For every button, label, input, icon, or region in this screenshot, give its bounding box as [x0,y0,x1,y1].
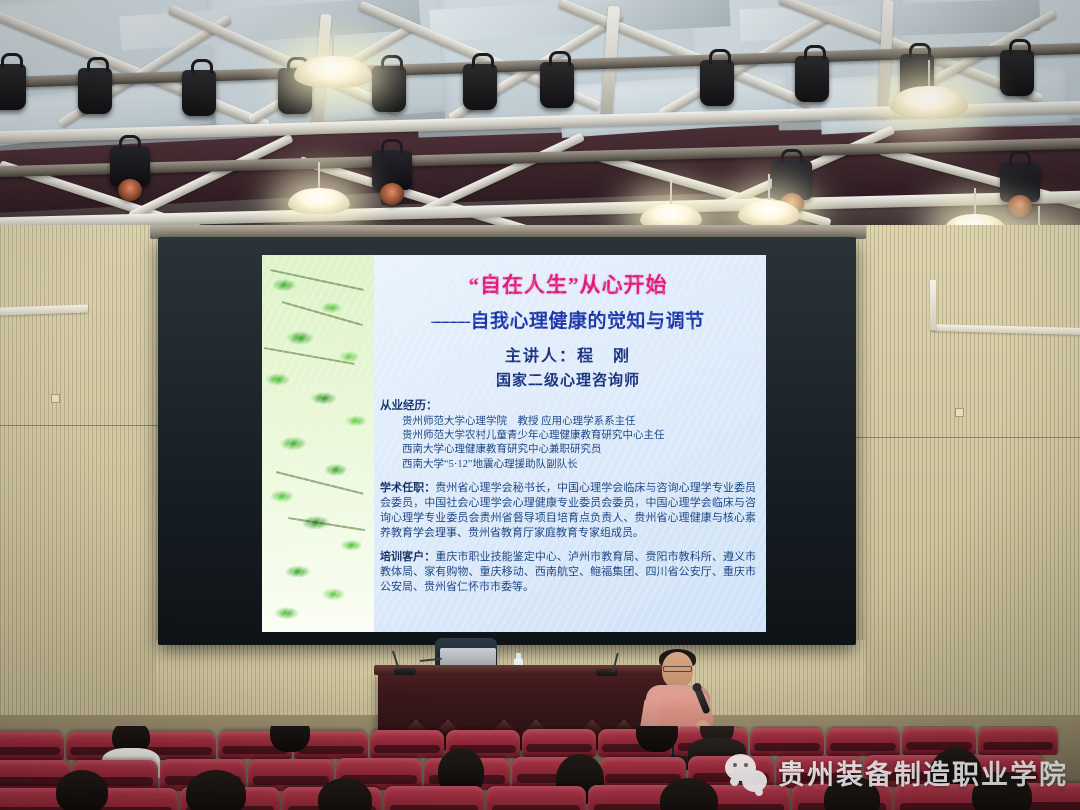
seat [0,732,64,760]
wall-seam [0,425,172,426]
slide-title: “自在人生”从心开始 [380,269,756,299]
presentation-slide: “自在人生”从心开始 ——自我心理健康的觉知与调节 主讲人：程 刚 国家二级心理… [262,255,766,632]
stage-light [372,66,406,112]
glasses-icon [663,666,692,672]
pendant-lamp [890,86,968,118]
slide-text-area: “自在人生”从心开始 ——自我心理健康的觉知与调节 主讲人：程 刚 国家二级心理… [374,255,766,632]
slide-leaf-illustration [262,255,374,632]
watermark: 贵州装备制造职业学院 [725,753,1068,792]
wechat-icon [725,754,767,792]
seat [826,728,900,756]
desk-microphone-base [596,669,618,676]
academic-text: 贵州省心理学会秘书长，中国心理学会临床与咨询心理学专业委员会委员，中国社会心理学… [380,482,756,539]
seat [384,786,484,810]
ceiling-structure [0,0,1080,232]
seat [978,727,1058,755]
pendant-lamp [288,188,350,214]
audience-head [56,770,108,810]
stage-light [540,62,574,108]
stage-light [463,64,497,110]
slide-section-academic: 学术任职：贵州省心理学会秘书长，中国心理学会临床与咨询心理学专业委员会委员，中国… [380,481,756,541]
podium-top-surface [374,665,680,675]
seat [486,786,586,810]
stage-light-front [772,160,812,200]
pendant-lamp [294,56,372,88]
wall-seam [850,437,1080,438]
stage-light-front [372,150,412,190]
clients-label: 培训客户： [380,551,435,563]
slide-speaker-credential: 国家二级心理咨询师 [380,369,756,390]
seat [522,729,596,757]
stage-light-front [110,146,150,186]
stage-light [700,60,734,106]
experience-item: 贵州师范大学农村儿童青少年心理健康教育研究中心主任 [380,429,756,443]
clients-text: 重庆市职业技能鉴定中心、泸州市教育局、贵阳市教科所、遵义市教体局、家有购物、重庆… [380,551,756,593]
stage-light [78,68,112,114]
experience-item: 西南大学“5·12”地震心理援助队副队长 [380,458,756,472]
watermark-label: 贵州装备制造职业学院 [778,753,1068,792]
led-screen: “自在人生”从心开始 ——自我心理健康的觉知与调节 主讲人：程 刚 国家二级心理… [158,237,856,645]
stage-light [0,64,26,110]
seat [750,728,824,756]
slide-section-clients: 培训客户：重庆市职业技能鉴定中心、泸州市教育局、贵阳市教科所、遵义市教体局、家有… [380,550,756,595]
experience-label: 从业经历： [380,399,756,415]
pendant-lamp [738,200,800,226]
audience-head [186,770,246,810]
stage-light-front [1000,162,1040,202]
academic-label: 学术任职： [380,482,435,494]
wall-outlet [51,394,60,403]
slide-section-experience: 从业经历： 贵州师范大学心理学院 教授 应用心理学系系主任 贵州师范大学农村儿童… [380,399,756,472]
experience-item: 贵州师范大学心理学院 教授 应用心理学系系主任 [380,415,756,429]
wall-trim-right-vertical [930,280,936,330]
lecture-hall-photo: “自在人生”从心开始 ——自我心理健康的觉知与调节 主讲人：程 刚 国家二级心理… [0,0,1080,810]
slide-speaker-name: 主讲人：程 刚 [380,342,756,366]
stage-light [182,70,216,116]
wall-outlet [955,408,964,417]
experience-item: 西南大学心理健康教育研究中心兼职研究员 [380,443,756,457]
stage-light [1000,50,1034,96]
slide-subtitle: ——自我心理健康的觉知与调节 [380,306,756,333]
stage-light [795,56,829,102]
seat [370,730,444,758]
